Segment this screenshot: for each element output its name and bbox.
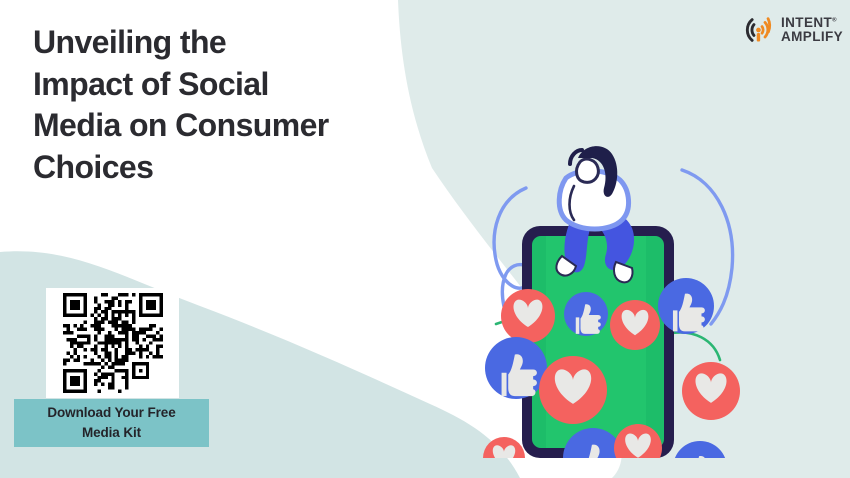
reaction-love [682,362,740,420]
brand-wordmark: INTENT® AMPLIFY [781,16,843,44]
download-media-kit-button[interactable]: Download Your Free Media Kit [14,399,209,447]
reaction-love [539,356,607,424]
page-title: Unveiling the Impact of Social Media on … [33,22,463,188]
qr-code-image [63,293,163,393]
logo-dot [756,28,761,33]
wifi-signal-icon [740,12,776,48]
reaction-love [483,437,525,458]
reaction-like [485,337,547,399]
brand-name-line2: AMPLIFY [781,30,843,44]
reaction-like [673,441,727,458]
brand-logo[interactable]: INTENT® AMPLIFY [740,10,844,50]
reaction-like [564,292,608,336]
brand-name-line1: INTENT® [781,16,843,30]
banner-canvas: INTENT® AMPLIFY Unveiling the Impact of … [0,0,850,478]
hero-illustration [470,128,760,458]
reaction-like [658,278,714,334]
trademark-symbol: ® [832,18,837,24]
reaction-love [501,289,555,343]
qr-code[interactable] [46,288,179,398]
reaction-love [610,300,660,350]
person-head [577,159,599,182]
illustration-artwork [470,128,760,458]
